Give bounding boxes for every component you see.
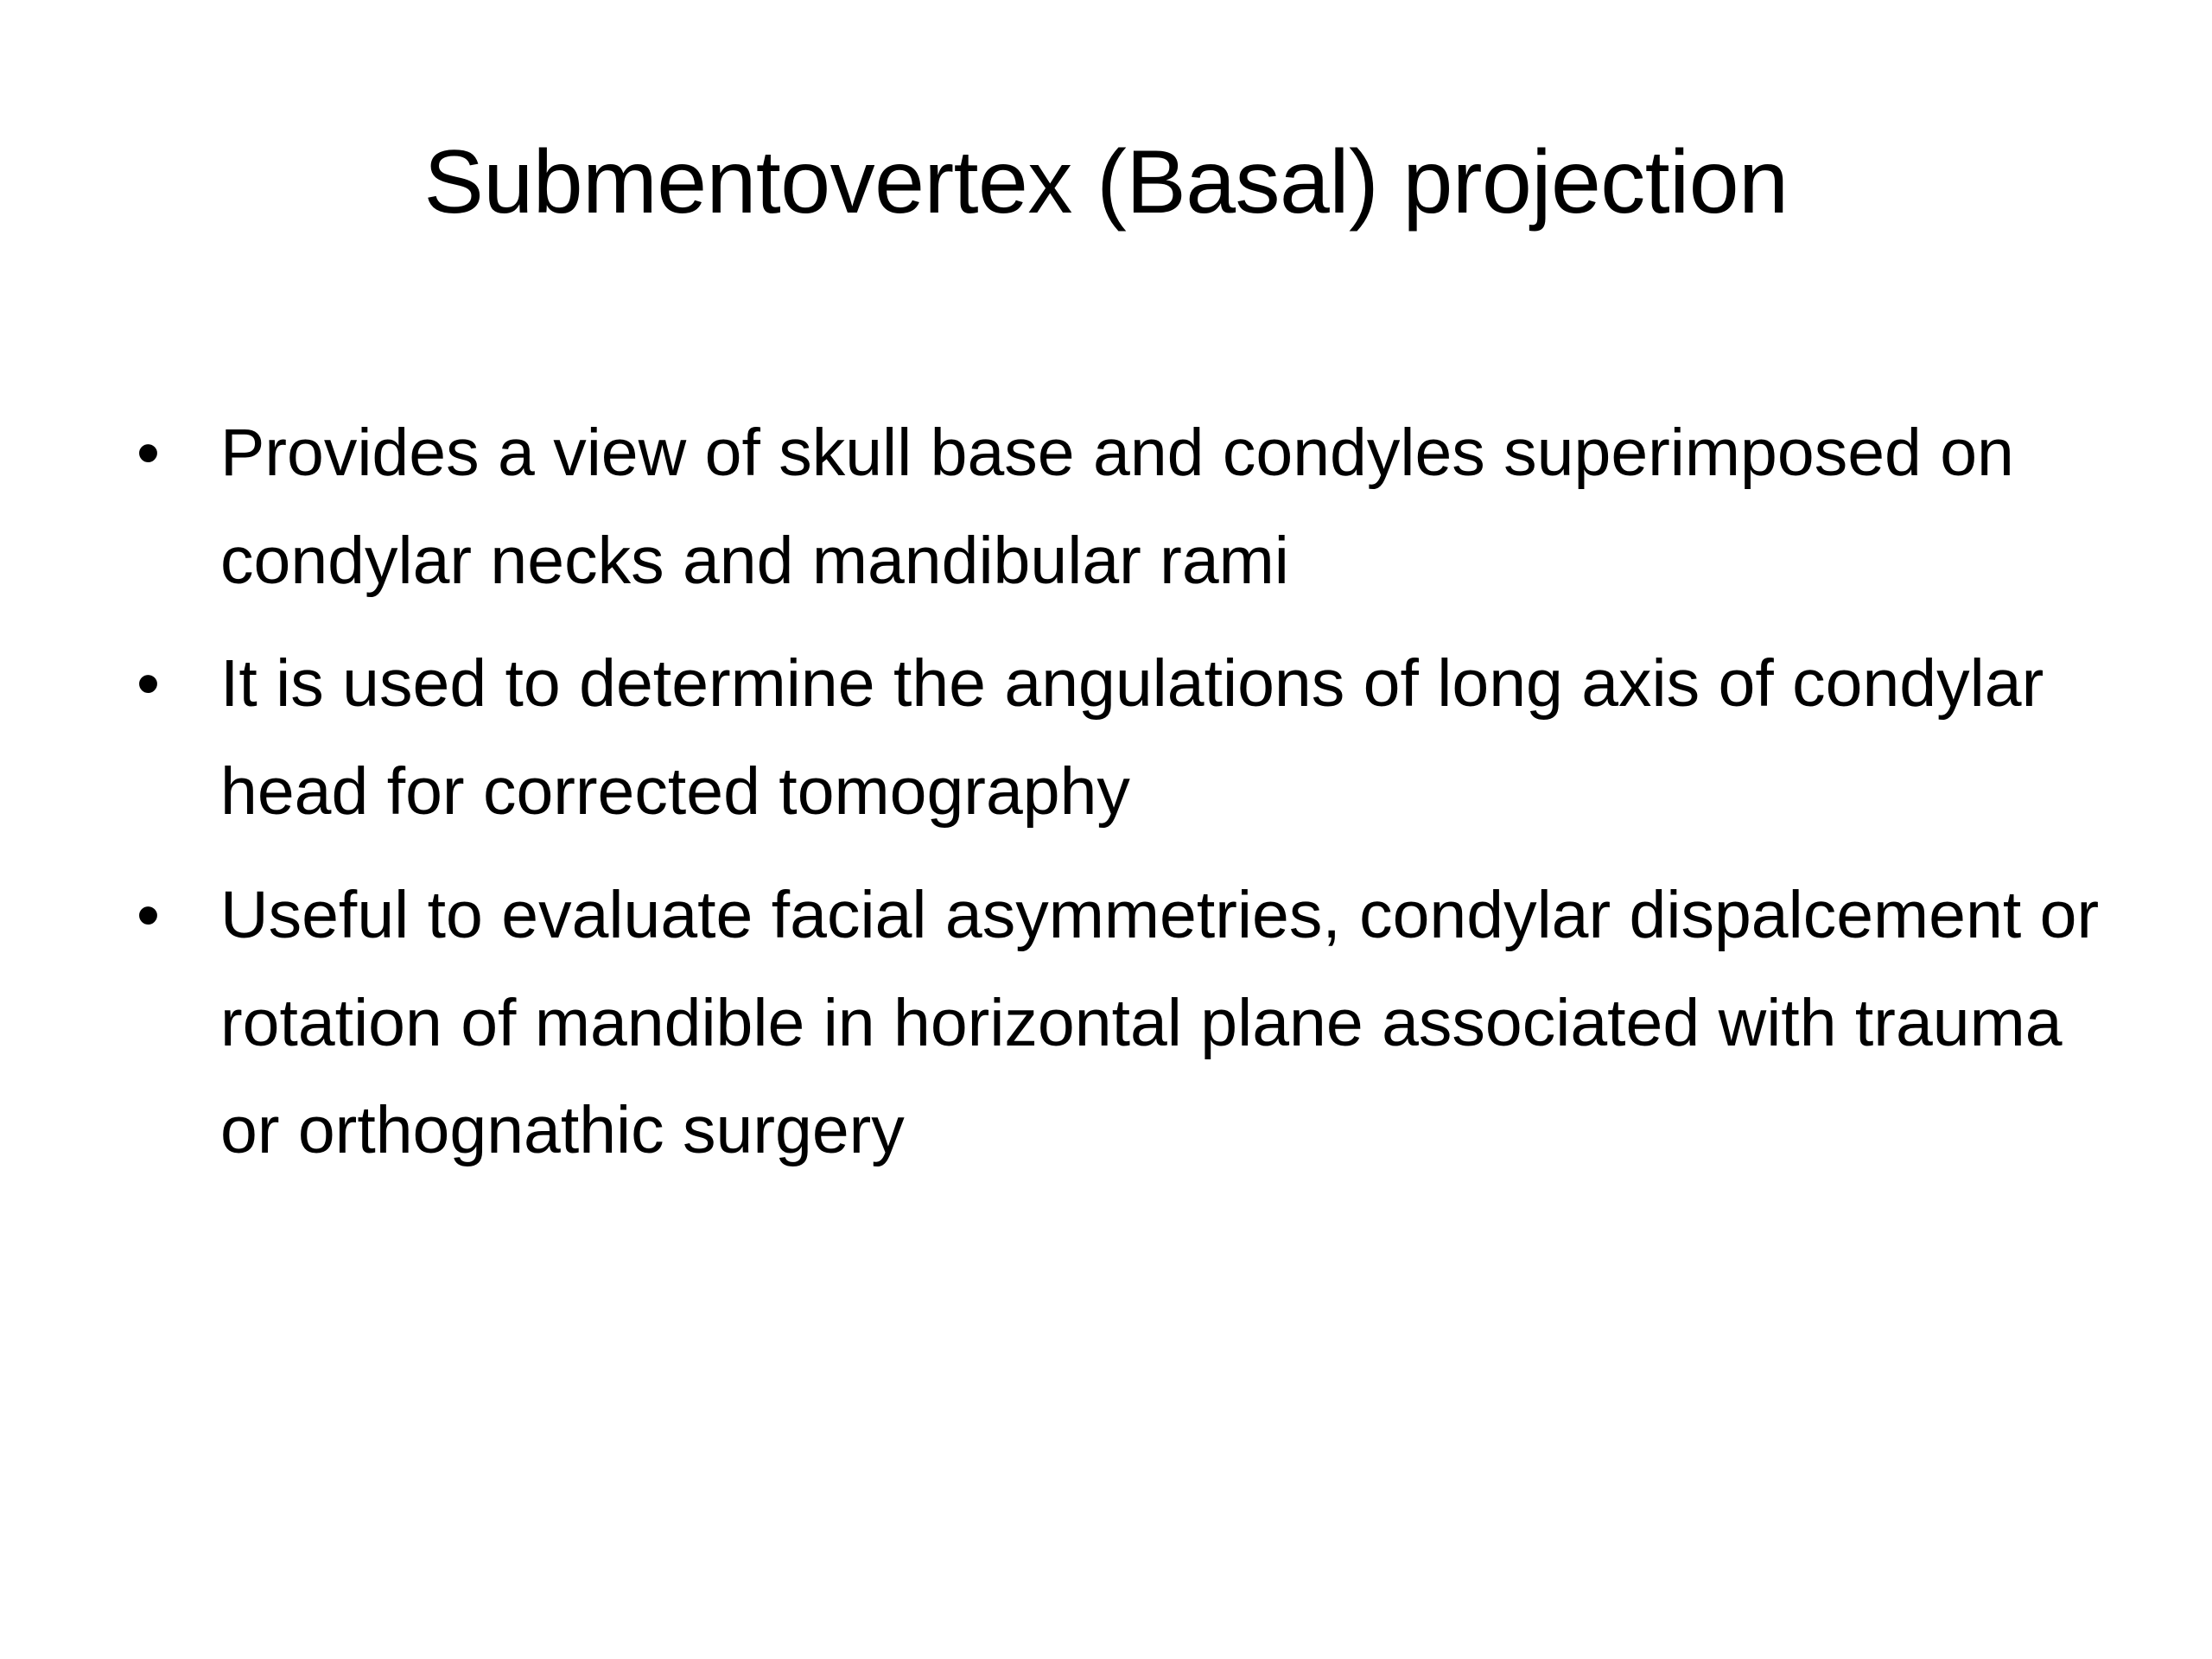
bullet-point-icon: •	[137, 630, 188, 738]
presentation-slide: Submentovertex (Basal) projection • Prov…	[0, 0, 2212, 1659]
page-title: Submentovertex (Basal) projection	[0, 130, 2212, 236]
bullet-list: • Provides a view of skull base and cond…	[130, 399, 2134, 1185]
bullet-point-icon: •	[137, 399, 188, 507]
list-item: • Useful to evaluate facial asymmetries,…	[130, 861, 2134, 1185]
list-item: • Provides a view of skull base and cond…	[130, 399, 2134, 614]
list-item: • It is used to determine the angulation…	[130, 630, 2134, 845]
list-item-text: It is used to determine the angulations …	[220, 630, 2134, 845]
slide-body: • Provides a view of skull base and cond…	[130, 399, 2134, 1185]
bullet-point-icon: •	[137, 861, 188, 969]
list-item-text: Useful to evaluate facial asymmetries, c…	[220, 861, 2134, 1185]
list-item-text: Provides a view of skull base and condyl…	[220, 399, 2134, 614]
